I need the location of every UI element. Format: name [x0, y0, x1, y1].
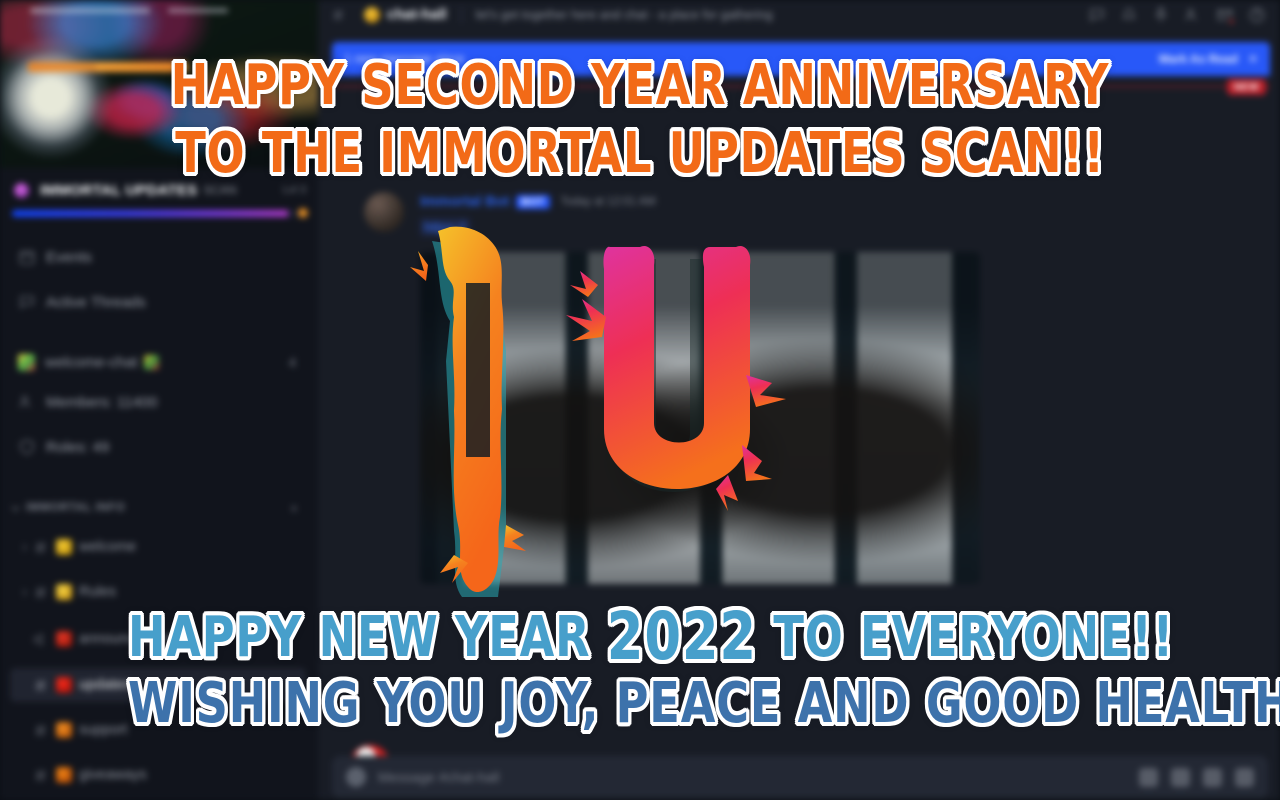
plus-circle-icon[interactable] [346, 767, 366, 787]
server-boost-progress [12, 210, 306, 217]
help-icon[interactable] [1248, 6, 1266, 24]
hash-icon [32, 722, 49, 739]
channel-sidebar: IMMORTAL UPDATES SCAN Lvl 3 Events Activ… [0, 0, 318, 800]
header-icon-group [1088, 6, 1268, 24]
message-author[interactable]: Immortal Bot [420, 194, 509, 210]
hash-icon [330, 7, 346, 23]
channel-category-header[interactable]: IMMORTAL INFO + [8, 495, 310, 521]
channel-emoji-icon [56, 677, 72, 693]
server-banner-art [0, 0, 318, 168]
emoji-icon [18, 354, 35, 371]
category-label: IMMORTAL INFO [26, 502, 125, 514]
sidebar-item-welcome[interactable]: welcome [10, 530, 306, 564]
sticker-icon[interactable] [1203, 768, 1222, 787]
new-divider-pill: NEW [1227, 79, 1266, 95]
sidebar-item-rules[interactable]: Rules [10, 575, 306, 609]
sidebar-item-label: welcome-chat [45, 354, 138, 371]
channel-emoji-icon [56, 539, 72, 555]
roles-icon [18, 438, 36, 456]
banner-text-line-1 [30, 8, 150, 13]
boost-spark-icon [298, 208, 308, 218]
calendar-icon [18, 248, 36, 266]
channel-topic: let's get together here and chat - a pla… [476, 8, 773, 22]
sidebar-item-active-threads[interactable]: Active Threads [10, 285, 306, 319]
composer-placeholder: Message #chat-hall [378, 769, 499, 785]
channel-emoji-icon [56, 767, 72, 783]
channel-name: giveaways [79, 767, 147, 783]
sidebar-item-welcome-chat[interactable]: welcome-chat 4 [10, 345, 306, 379]
server-boost-level: Lvl 3 [283, 184, 306, 196]
sidebar-item-count: 4 [289, 355, 296, 370]
banner-headline-bar-2 [96, 62, 180, 72]
message-timestamp: Today at 12:01 AM [561, 196, 656, 208]
channel-name: updates [79, 677, 131, 693]
sidebar-item-updates[interactable]: updates [10, 668, 306, 702]
bot-badge: BOT [516, 195, 549, 209]
sidebar-item-label: Roles: 49 [46, 439, 109, 456]
avatar[interactable] [364, 192, 404, 232]
message-composer[interactable]: Message #chat-hall [332, 756, 1268, 798]
emoji-icon[interactable] [1235, 768, 1254, 787]
channel-header: chat-hall let's get together here and ch… [318, 0, 1280, 30]
mark-as-read-button[interactable]: Mark As Read [1159, 52, 1238, 66]
channel-emoji-icon [364, 7, 380, 23]
server-banner [0, 0, 318, 168]
sidebar-item-label: Members: 11400 [46, 394, 157, 411]
immortal-updates-logo [410, 225, 880, 605]
members-icon [18, 393, 36, 411]
sidebar-item-label: Active Threads [46, 294, 146, 311]
server-tag: SCAN [203, 183, 236, 197]
channel-emoji-icon [56, 631, 72, 647]
screenshot-root: IMMORTAL UPDATES SCAN Lvl 3 Events Activ… [0, 0, 1280, 800]
channel-name: welcome [79, 539, 136, 555]
channel-name: Rules [79, 584, 116, 600]
channel-title: chat-hall [387, 7, 447, 23]
threads-icon[interactable] [1088, 6, 1106, 24]
banner-text-line-2 [168, 8, 228, 13]
close-icon[interactable]: ✕ [1248, 52, 1258, 66]
channel-emoji-icon [56, 584, 72, 600]
sidebar-item-roles[interactable]: Roles: 49 [10, 430, 306, 464]
hash-icon [32, 584, 49, 601]
header-divider [461, 7, 462, 23]
sidebar-item-announcements[interactable]: announcements [10, 622, 306, 656]
notification-bell-icon[interactable] [1120, 6, 1138, 24]
sidebar-item-events[interactable]: Events [10, 240, 306, 274]
new-messages-divider [332, 86, 1270, 87]
server-boost-badge-icon [14, 183, 29, 198]
server-header[interactable]: IMMORTAL UPDATES SCAN Lvl 3 [0, 168, 318, 212]
chevron-down-icon [10, 503, 21, 514]
channel-name: support [79, 722, 127, 738]
channel-emoji-icon [56, 722, 72, 738]
threads-icon [18, 293, 36, 311]
hash-icon [32, 539, 49, 556]
server-name: IMMORTAL UPDATES [40, 182, 197, 199]
members-icon[interactable] [1184, 6, 1202, 24]
inbox-icon[interactable] [1216, 6, 1234, 24]
sidebar-item-members[interactable]: Members: 11400 [10, 385, 306, 419]
inbox-badge [1227, 17, 1236, 26]
announcement-icon [32, 631, 49, 648]
sidebar-item-support[interactable]: support [10, 713, 306, 747]
channel-name: announcements [79, 631, 182, 647]
hash-icon [32, 677, 49, 694]
chevron-right-icon [20, 543, 29, 552]
composer-icon-group [1139, 768, 1254, 787]
sidebar-item-label: Events [46, 249, 92, 266]
new-messages-label: 1 new message since [344, 52, 464, 66]
pin-icon[interactable] [1152, 6, 1170, 24]
sidebar-item-giveaways[interactable]: giveaways [10, 758, 306, 792]
add-channel-button[interactable]: + [290, 500, 298, 516]
gift-icon[interactable] [1139, 768, 1158, 787]
hash-icon [32, 767, 49, 784]
gif-icon[interactable] [1171, 768, 1190, 787]
emoji-icon-trailing [144, 355, 159, 370]
chevron-right-icon [20, 588, 29, 597]
new-messages-banner: 1 new message since Mark As Read ✕ [332, 42, 1270, 76]
